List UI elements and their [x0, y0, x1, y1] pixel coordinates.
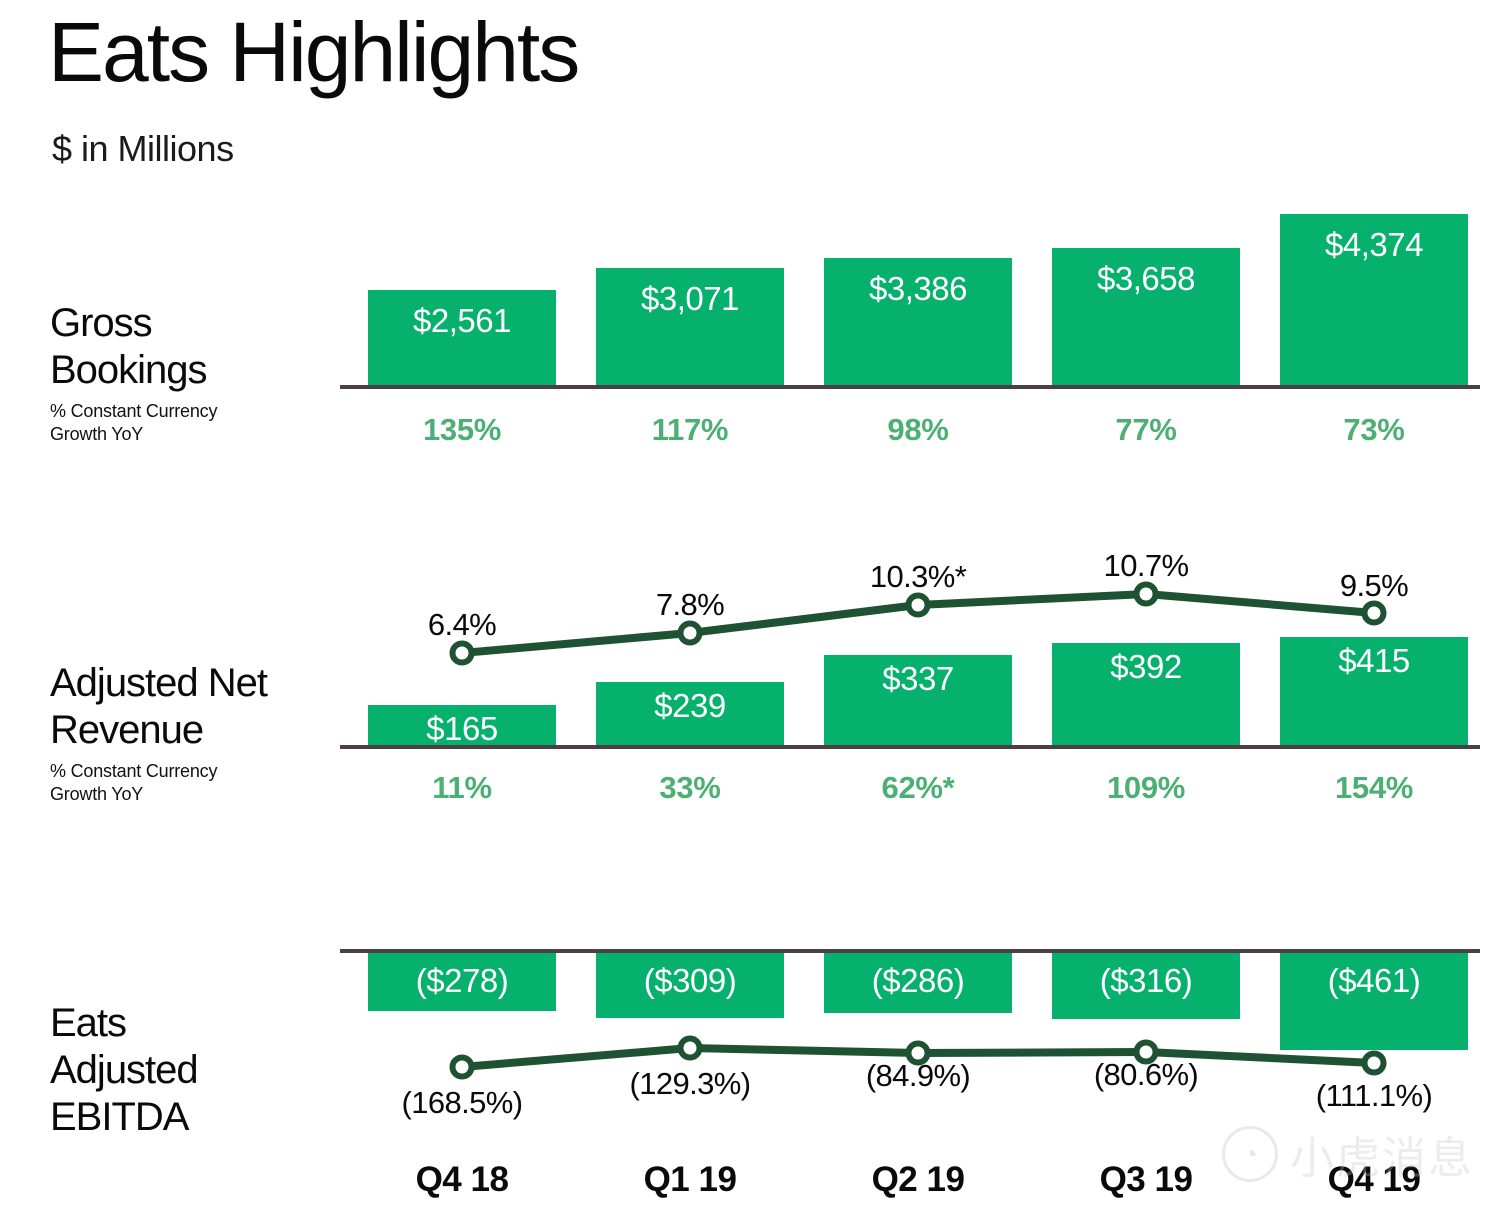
gross-bookings-label-line2: Bookings — [50, 347, 350, 394]
quarter-label-q1-19: Q1 19 — [596, 1160, 784, 1200]
gross-bookings-sub-line1: % Constant Currency — [50, 400, 350, 423]
adjusted-net-revenue-sub-line2: Growth YoY — [50, 783, 350, 806]
eats-ebitda-label-line2: Adjusted — [50, 1047, 350, 1094]
section-label-eats-adjusted-ebitda: Eats Adjusted EBITDA — [50, 1000, 350, 1142]
chart-gross-bookings: $2,561 $3,071 $3,386 $3,658 $4,374 135% … — [340, 200, 1484, 470]
bar-value-gross-bookings-q4-18: $2,561 — [368, 302, 556, 340]
bar-value-eats-ebitda-q3-19: ($316) — [1052, 962, 1240, 1000]
quarter-label-q3-19: Q3 19 — [1052, 1160, 1240, 1200]
margin-adjusted-net-revenue-q3-19: 10.7% — [1046, 548, 1246, 584]
margin-eats-ebitda-q4-19: (111.1%) — [1274, 1078, 1474, 1114]
page-subtitle: $ in Millions — [52, 128, 234, 170]
bar-value-eats-ebitda-q4-18: ($278) — [368, 962, 556, 1000]
adjusted-net-revenue-sub-line1: % Constant Currency — [50, 760, 350, 783]
gross-bookings-label-line1: Gross — [50, 300, 350, 347]
growth-gross-bookings-q1-19: 117% — [596, 412, 784, 448]
axis-line-gross-bookings — [340, 385, 1480, 389]
eats-ebitda-label-line3: EBITDA — [50, 1094, 350, 1141]
bar-value-eats-ebitda-q4-19: ($461) — [1280, 962, 1468, 1000]
bar-value-adjusted-net-revenue-q4-19: $415 — [1280, 642, 1468, 680]
bar-value-gross-bookings-q1-19: $3,071 — [596, 280, 784, 318]
growth-adjusted-net-revenue-q4-18: 11% — [368, 770, 556, 806]
growth-gross-bookings-q3-19: 77% — [1052, 412, 1240, 448]
section-label-gross-bookings: Gross Bookings % Constant Currency Growt… — [50, 300, 350, 446]
growth-gross-bookings-q4-18: 135% — [368, 412, 556, 448]
margin-eats-ebitda-q2-19: (84.9%) — [818, 1058, 1018, 1094]
bar-value-adjusted-net-revenue-q4-18: $165 — [368, 710, 556, 748]
margin-eats-ebitda-q4-18: (168.5%) — [362, 1085, 562, 1121]
bar-value-gross-bookings-q4-19: $4,374 — [1280, 226, 1468, 264]
growth-gross-bookings-q2-19: 98% — [824, 412, 1012, 448]
slide-root: Eats Highlights $ in Millions Gross Book… — [0, 0, 1494, 1210]
margin-adjusted-net-revenue-q1-19: 7.8% — [590, 587, 790, 623]
growth-adjusted-net-revenue-q4-19: 154% — [1280, 770, 1468, 806]
bar-value-adjusted-net-revenue-q3-19: $392 — [1052, 648, 1240, 686]
bar-value-eats-ebitda-q2-19: ($286) — [824, 962, 1012, 1000]
margin-eats-ebitda-q3-19: (80.6%) — [1046, 1057, 1246, 1093]
margin-adjusted-net-revenue-q2-19: 10.3%* — [818, 559, 1018, 595]
adjusted-net-revenue-label-line2: Revenue — [50, 707, 350, 754]
growth-gross-bookings-q4-19: 73% — [1280, 412, 1468, 448]
page-title: Eats Highlights — [48, 8, 578, 96]
adjusted-net-revenue-label-line1: Adjusted Net — [50, 660, 350, 707]
margin-adjusted-net-revenue-q4-19: 9.5% — [1274, 568, 1474, 604]
gross-bookings-sub-line2: Growth YoY — [50, 423, 350, 446]
bar-value-gross-bookings-q3-19: $3,658 — [1052, 260, 1240, 298]
bar-value-adjusted-net-revenue-q2-19: $337 — [824, 660, 1012, 698]
quarter-label-q4-18: Q4 18 — [368, 1160, 556, 1200]
bar-value-gross-bookings-q2-19: $3,386 — [824, 270, 1012, 308]
bar-value-adjusted-net-revenue-q1-19: $239 — [596, 687, 784, 725]
chart-adjusted-net-revenue: $165 $239 $337 $392 $415 6.4% 7.8% 10.3%… — [340, 555, 1484, 825]
quarter-label-q4-19: Q4 19 — [1280, 1160, 1468, 1200]
bar-value-eats-ebitda-q1-19: ($309) — [596, 962, 784, 1000]
growth-adjusted-net-revenue-q2-19: 62%* — [824, 770, 1012, 806]
section-label-adjusted-net-revenue: Adjusted Net Revenue % Constant Currency… — [50, 660, 350, 806]
growth-adjusted-net-revenue-q1-19: 33% — [596, 770, 784, 806]
growth-adjusted-net-revenue-q3-19: 109% — [1052, 770, 1240, 806]
chart-eats-adjusted-ebitda: ($278) ($309) ($286) ($316) ($461) (168.… — [340, 945, 1484, 1210]
margin-eats-ebitda-q1-19: (129.3%) — [590, 1066, 790, 1102]
quarter-label-q2-19: Q2 19 — [824, 1160, 1012, 1200]
margin-adjusted-net-revenue-q4-18: 6.4% — [362, 607, 562, 643]
eats-ebitda-label-line1: Eats — [50, 1000, 350, 1047]
